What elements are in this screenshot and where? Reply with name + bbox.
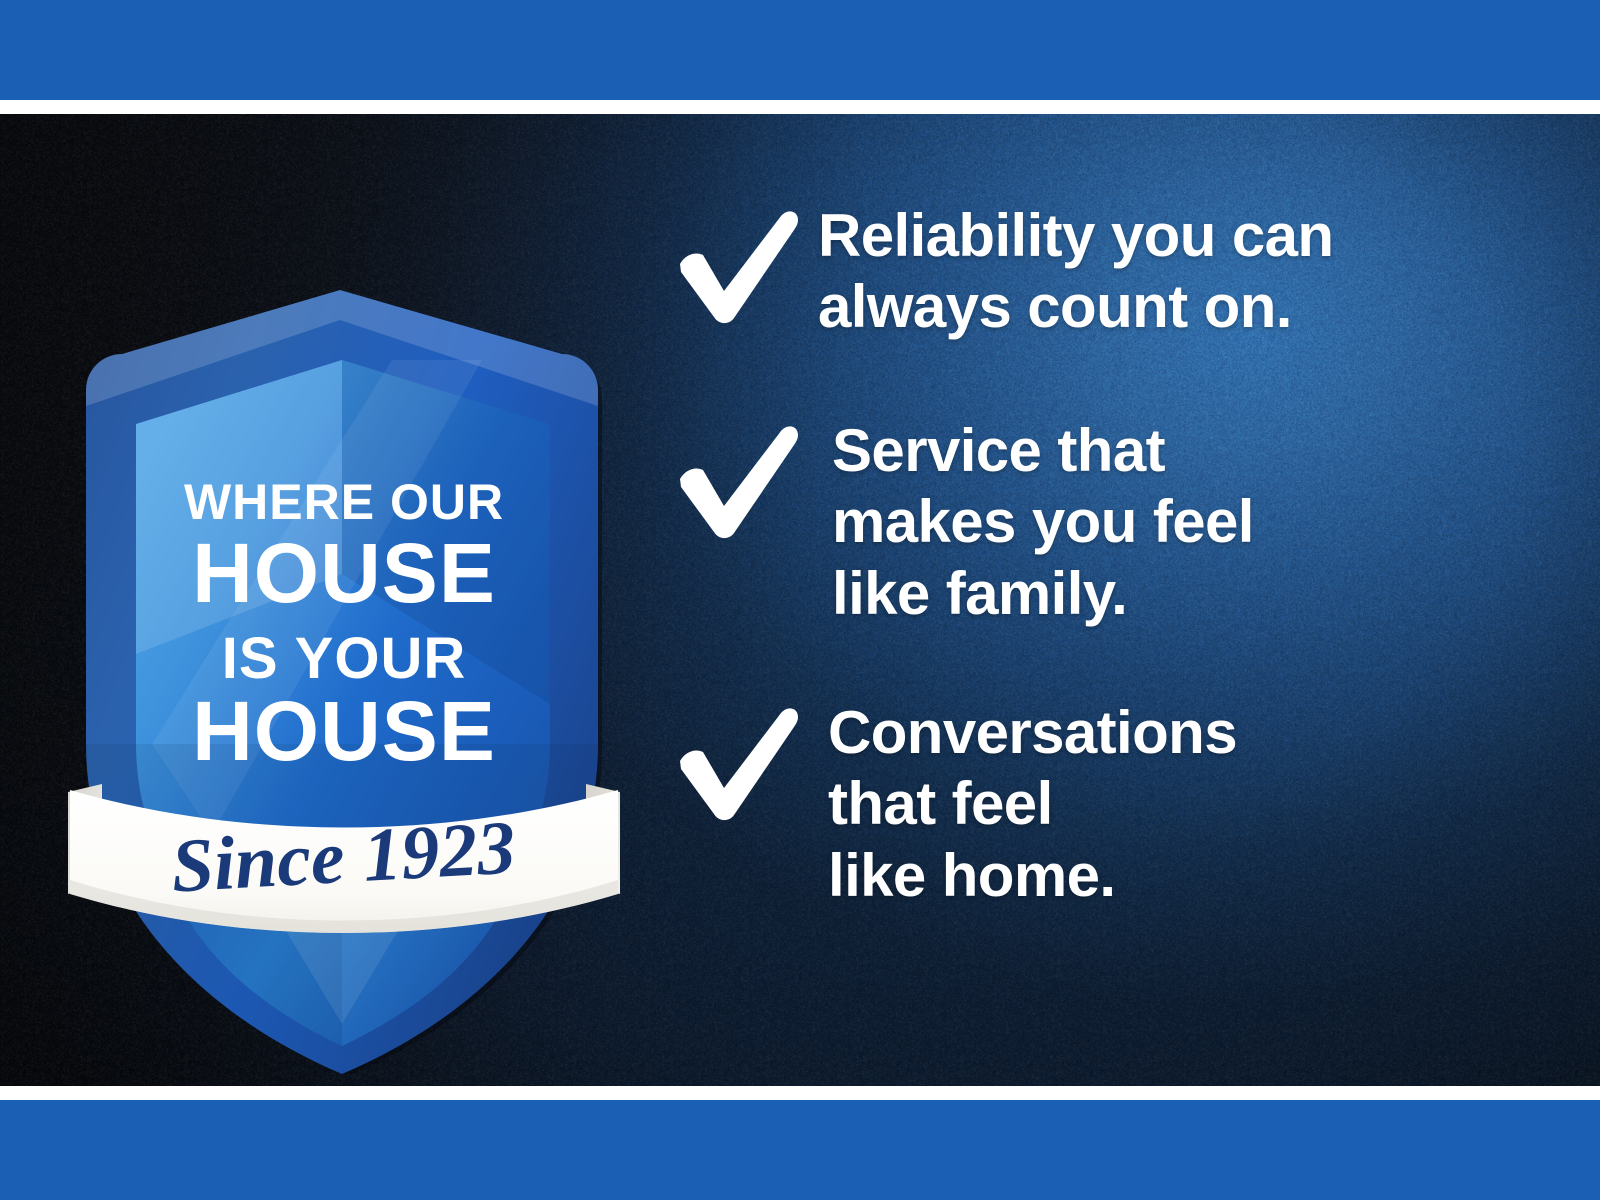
promo-graphic-canvas: WHERE OUR HOUSE IS YOUR HOUSE Since 1923: [0, 0, 1600, 1200]
shield-line-2: HOUSE: [192, 526, 496, 620]
shield-line-3: IS YOUR: [222, 626, 466, 691]
benefit-text: Conversations that feel like home.: [828, 697, 1568, 911]
main-stage: WHERE OUR HOUSE IS YOUR HOUSE Since 1923: [0, 114, 1600, 1086]
top-brand-bar: [0, 0, 1600, 100]
checkmark-icon: [668, 206, 800, 326]
benefit-text: Service that makes you feel like family.: [832, 415, 1568, 629]
checkmark-icon: [668, 421, 800, 541]
shield-line-1: WHERE OUR: [184, 474, 504, 530]
shield-line-4: HOUSE: [192, 684, 496, 778]
bottom-brand-bar: [0, 1100, 1600, 1200]
benefits-list: Reliability you can always count on. Ser…: [668, 200, 1568, 911]
shield-logo: WHERE OUR HOUSE IS YOUR HOUSE Since 1923: [62, 274, 622, 1074]
checkmark-icon: [668, 703, 800, 823]
shield-wordmark: WHERE OUR HOUSE IS YOUR HOUSE: [184, 474, 504, 778]
benefit-item-reliability: Reliability you can always count on.: [668, 200, 1568, 343]
benefit-item-service: Service that makes you feel like family.: [668, 415, 1568, 629]
benefit-text: Reliability you can always count on.: [818, 200, 1568, 343]
benefit-item-conversations: Conversations that feel like home.: [668, 697, 1568, 911]
